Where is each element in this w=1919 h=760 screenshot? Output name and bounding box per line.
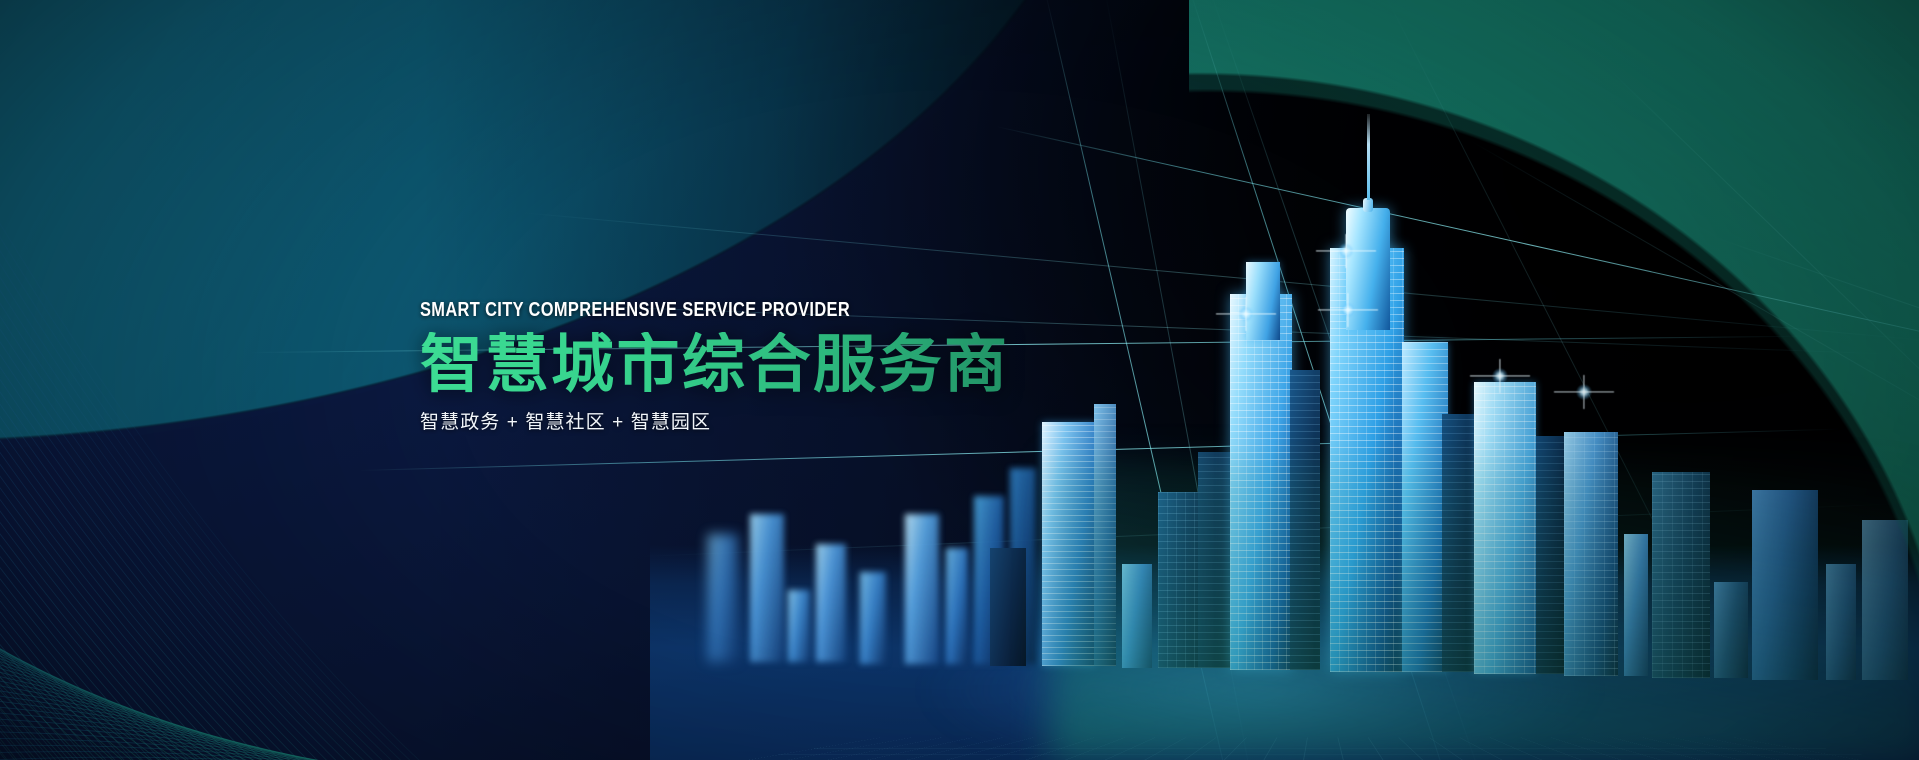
- banner-eyebrow: SMART CITY COMPREHENSIVE SERVICE PROVIDE…: [420, 300, 1043, 320]
- banner-subline: 智慧政务 + 智慧社区 + 智慧园区: [420, 413, 1180, 432]
- smart-city-hero-banner: SMART CITY COMPREHENSIVE SERVICE PROVIDE…: [0, 0, 1919, 760]
- banner-headline: 智慧城市综合服务商: [420, 332, 1180, 399]
- hero-copy: SMART CITY COMPREHENSIVE SERVICE PROVIDE…: [420, 300, 1180, 432]
